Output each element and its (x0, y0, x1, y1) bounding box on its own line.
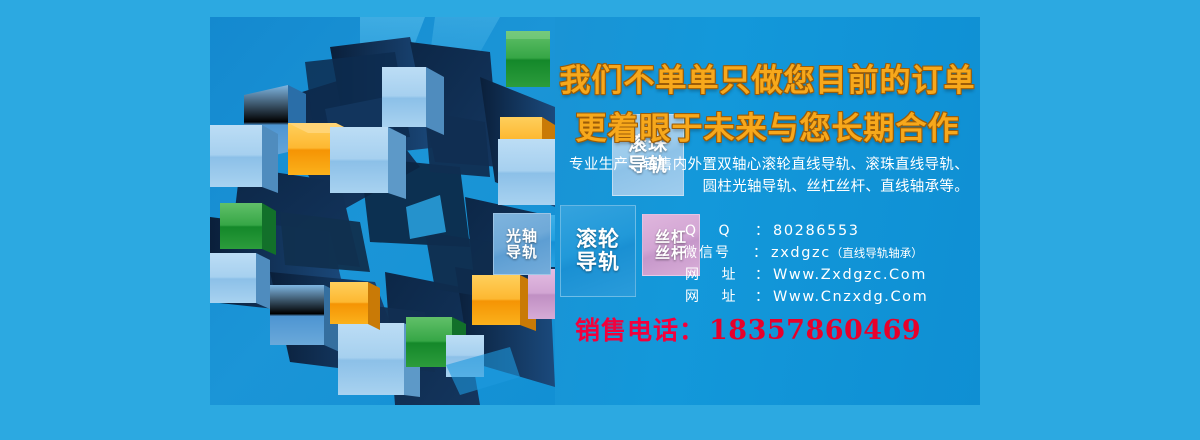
description-text: 专业生产、销售内外置双轴心滚轮直线导轨、滚珠直线导轨、圆柱光轴导轨、丝杠丝杆、直… (569, 154, 969, 198)
banner-content: 我们不单单只做您目前的订单 更着眼于未来与您长期合作 专业生产、销售内外置双轴心… (555, 17, 980, 405)
contact-label-wechat: 微信号 (683, 242, 753, 262)
contact-value-wechat[interactable]: zxdgzc (771, 245, 831, 261)
contact-note-wechat: （直线导轨轴承） (831, 245, 923, 261)
sales-phone-label: 销售电话： (575, 316, 705, 345)
headline-line-1: 我们不单单只做您目前的订单 (555, 55, 980, 100)
contact-separator: ： (753, 242, 767, 262)
cube-cluster-artwork (210, 17, 555, 405)
contact-value-website-2[interactable]: Www.Cnzxdg.Com (773, 289, 928, 305)
contact-row-website-2: 网 址 ： Www.Cnzxdg.Com (683, 286, 928, 308)
contact-info-list: Q Q ： 80286553 微信号 ： zxdgzc （直线导轨轴承） 网 址… (683, 220, 928, 308)
contact-row-qq: Q Q ： 80286553 (683, 220, 928, 242)
promotional-banner: 滚珠 导轨 光轴 导轨 滚轮 导轨 丝杠 丝杆 我们不单单只做您目前的订单 更着… (0, 0, 1200, 440)
banner-panel: 滚珠 导轨 光轴 导轨 滚轮 导轨 丝杠 丝杆 我们不单单只做您目前的订单 更着… (210, 17, 980, 405)
contact-value-website-1[interactable]: Www.Zxdgzc.Com (773, 267, 927, 283)
cube-label-guangzhou-daogui: 光轴 导轨 (493, 213, 551, 275)
sales-phone-number[interactable]: 18357860469 (709, 315, 921, 346)
contact-label-website-2: 网 址 (683, 286, 755, 306)
headline-line-2: 更着眼于未来与您长期合作 (555, 103, 980, 148)
contact-label-website-1: 网 址 (683, 264, 755, 284)
sales-phone[interactable]: 销售电话：18357860469 (575, 311, 921, 347)
cube-label-line2: 导轨 (506, 244, 538, 260)
contact-row-website-1: 网 址 ： Www.Zxdgzc.Com (683, 264, 928, 286)
contact-separator: ： (755, 220, 769, 240)
contact-separator: ： (755, 264, 769, 284)
contact-separator: ： (755, 286, 769, 306)
cube-label-line1: 光轴 (506, 228, 538, 244)
contact-label-qq: Q Q (683, 223, 755, 239)
contact-row-wechat: 微信号 ： zxdgzc （直线导轨轴承） (683, 242, 928, 264)
contact-value-qq[interactable]: 80286553 (773, 223, 860, 239)
